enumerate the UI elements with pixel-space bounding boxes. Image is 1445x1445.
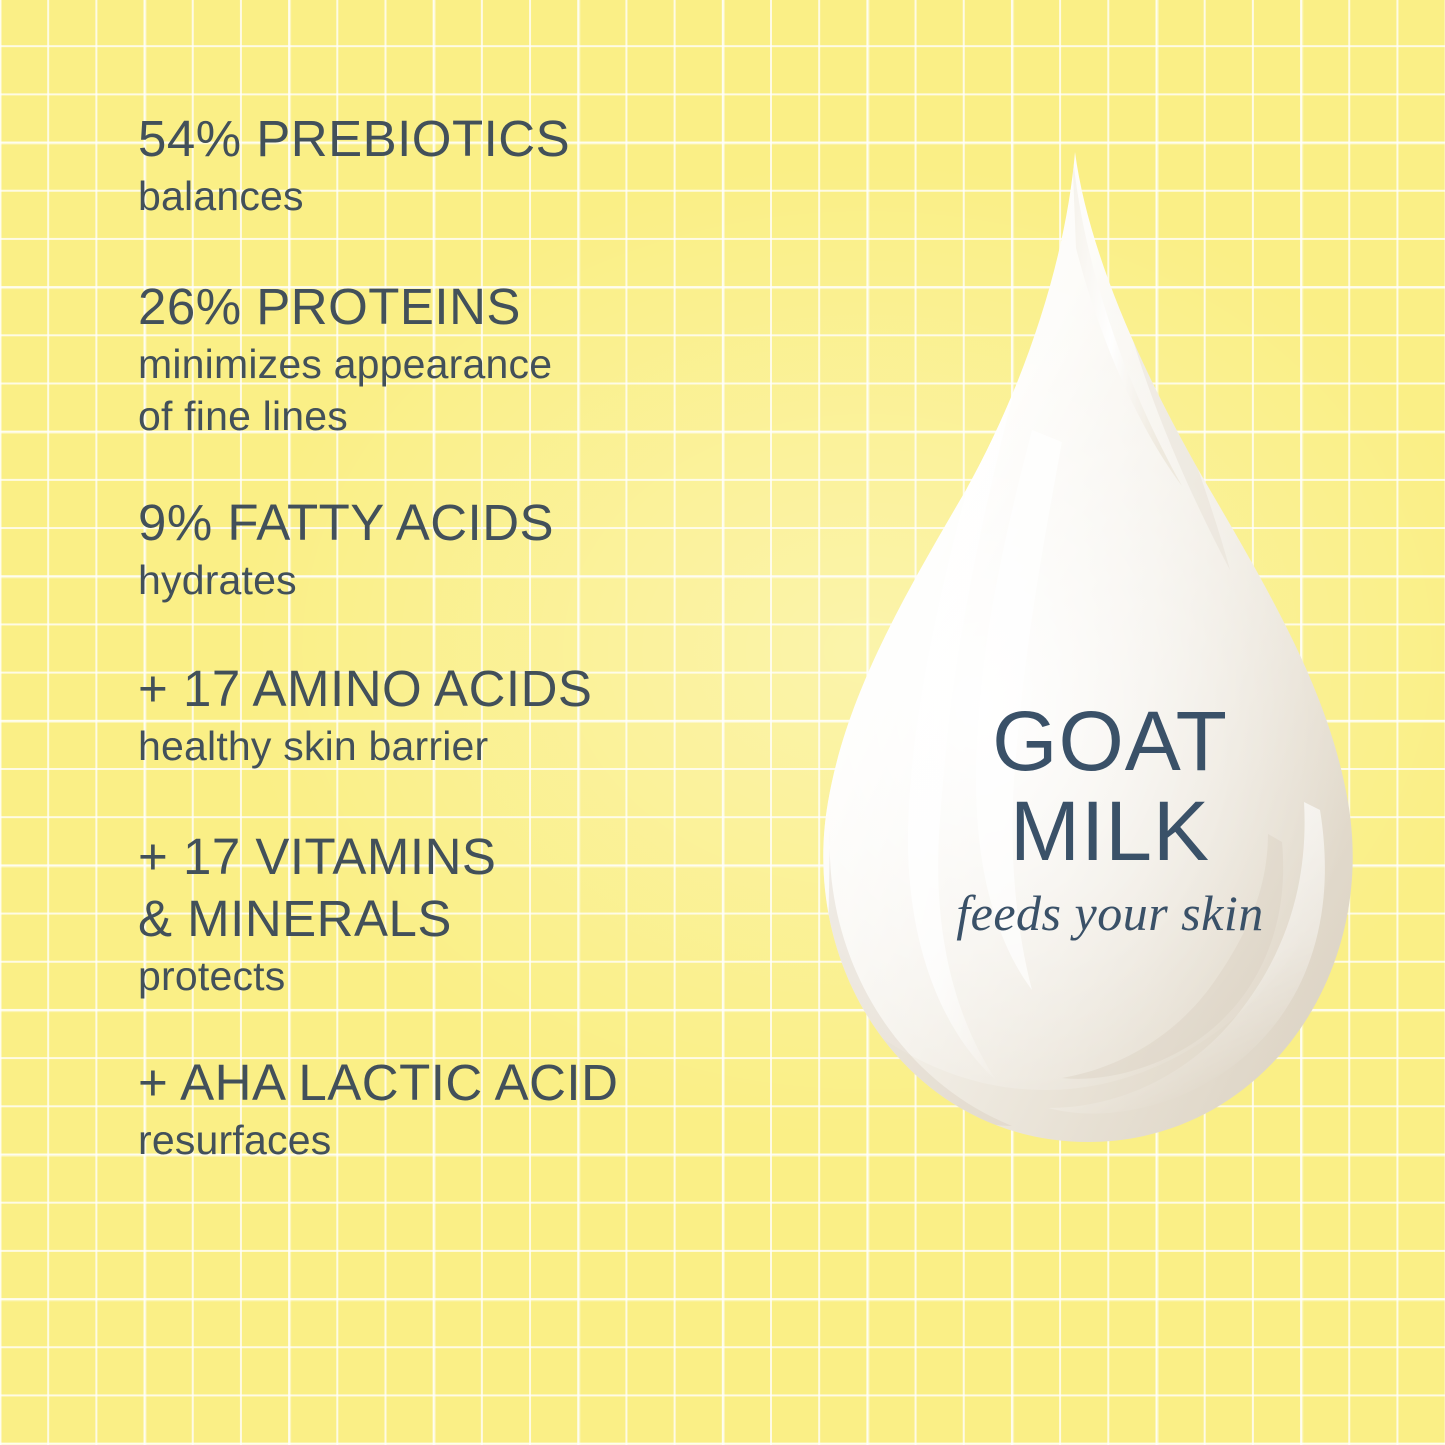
nutrient-item-aha-lactic-acid: + AHA LACTIC ACID resurfaces <box>138 1052 818 1166</box>
infographic-canvas: 54% PREBIOTICS balances 26% PROTEINS min… <box>0 0 1445 1445</box>
nutrient-headline: 9% FATTY ACIDS <box>138 492 818 554</box>
nutrient-benefit-line-2: of fine lines <box>138 390 818 442</box>
milk-droplet: GOAT MILK feeds your skin <box>800 130 1420 1180</box>
nutrient-headline-line-1: + 17 VITAMINS <box>138 826 818 888</box>
nutrient-benefit: protects <box>138 950 818 1002</box>
nutrient-benefit: balances <box>138 170 818 222</box>
nutrient-item-fatty-acids: 9% FATTY ACIDS hydrates <box>138 492 818 606</box>
nutrient-item-amino-acids: + 17 AMINO ACIDS healthy skin barrier <box>138 658 818 772</box>
nutrient-benefit: hydrates <box>138 554 818 606</box>
nutrient-list: 54% PREBIOTICS balances 26% PROTEINS min… <box>138 108 818 1166</box>
nutrient-headline: + 17 AMINO ACIDS <box>138 658 818 720</box>
nutrient-headline: + AHA LACTIC ACID <box>138 1052 818 1114</box>
nutrient-item-vitamins-minerals: + 17 VITAMINS & MINERALS protects <box>138 826 818 1002</box>
milk-droplet-icon <box>800 130 1420 1180</box>
nutrient-headline-line-2: & MINERALS <box>138 888 818 950</box>
nutrient-item-proteins: 26% PROTEINS minimizes appearance of fin… <box>138 276 818 442</box>
nutrient-headline: 26% PROTEINS <box>138 276 818 338</box>
nutrient-benefit-line-1: minimizes appearance <box>138 338 818 390</box>
nutrient-item-prebiotics: 54% PREBIOTICS balances <box>138 108 818 222</box>
nutrient-benefit: healthy skin barrier <box>138 720 818 772</box>
nutrient-headline: 54% PREBIOTICS <box>138 108 818 170</box>
nutrient-benefit: resurfaces <box>138 1114 818 1166</box>
